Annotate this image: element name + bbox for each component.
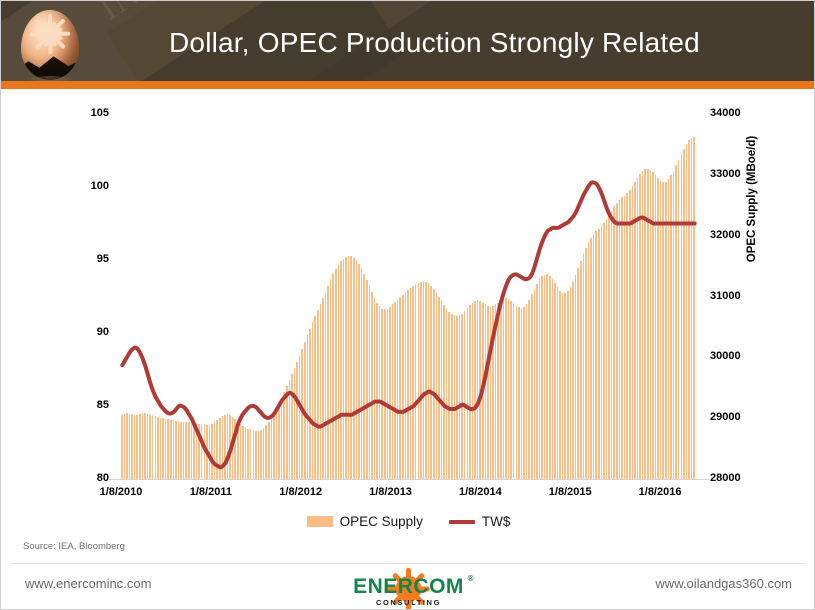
footer-link-enercominc[interactable]: www.enercominc.com xyxy=(25,576,151,591)
enercom-subtitle: CONSULTING xyxy=(334,598,484,607)
chart-legend: OPEC Supply TW$ xyxy=(1,514,815,529)
y-axis-right-tick: 32000 xyxy=(710,229,741,241)
x-axis-tick: 1/8/2010 xyxy=(89,486,153,498)
y-axis-right-tick: 34000 xyxy=(710,107,741,119)
y-axis-left-tick: 95 xyxy=(97,253,109,265)
y-axis-left-tick: 90 xyxy=(97,326,109,338)
registered-mark: ® xyxy=(468,574,474,583)
slide-container: INDUSTRY Dollar, OPEC Production Strongl… xyxy=(0,0,815,610)
x-axis-tick: 1/8/2011 xyxy=(179,486,243,498)
x-axis-tick: 1/8/2016 xyxy=(628,486,692,498)
y-axis-left-tick: 100 xyxy=(91,180,109,192)
page-title: Dollar, OPEC Production Strongly Related xyxy=(169,27,700,59)
plot-area xyxy=(121,114,696,479)
slide-header: INDUSTRY Dollar, OPEC Production Strongl… xyxy=(1,1,815,89)
x-axis-tick: 1/8/2015 xyxy=(538,486,602,498)
x-axis-tick: 1/8/2013 xyxy=(359,486,423,498)
legend-item-tw-dollar[interactable]: TW$ xyxy=(449,514,511,529)
tw-dollar-line-series xyxy=(121,114,696,479)
legend-label-opec-supply: OPEC Supply xyxy=(340,514,423,529)
enercom-egg-logo-icon xyxy=(21,10,79,80)
slide-footer: www.enercominc.com ENERCOM ® CONSULTING … xyxy=(1,564,815,610)
y-axis-right-tick: 29000 xyxy=(710,411,741,423)
y-axis-right-tick: 31000 xyxy=(710,290,741,302)
legend-label-tw-dollar: TW$ xyxy=(482,514,511,529)
footer-link-oilandgas360[interactable]: www.oilandgas360.com xyxy=(655,576,792,591)
x-axis-baseline xyxy=(109,479,709,480)
y-axis-left-tick: 105 xyxy=(91,107,109,119)
enercom-consulting-logo: ENERCOM ® CONSULTING xyxy=(334,568,484,610)
legend-bar-swatch-icon xyxy=(307,516,333,527)
y-axis-right-label: OPEC Supply (MBoe/d) xyxy=(746,99,758,299)
y-axis-left-tick: 85 xyxy=(97,399,109,411)
legend-line-swatch-icon xyxy=(449,520,475,524)
header-accent-stripe xyxy=(1,81,815,89)
enercom-wordmark: ENERCOM xyxy=(334,575,484,599)
x-axis-tick: 1/8/2014 xyxy=(448,486,512,498)
y-axis-right-tick: 28000 xyxy=(710,472,741,484)
source-note: Source: IEA, Bloomberg xyxy=(23,541,125,552)
y-axis-left-tick: 80 xyxy=(97,472,109,484)
y-axis-right-tick: 33000 xyxy=(710,168,741,180)
chart-container: Moving Average of US Trade Weighted Doll… xyxy=(1,89,815,544)
x-axis-tick: 1/8/2012 xyxy=(269,486,333,498)
legend-item-opec-supply[interactable]: OPEC Supply xyxy=(307,514,423,529)
y-axis-right-tick: 30000 xyxy=(710,350,741,362)
